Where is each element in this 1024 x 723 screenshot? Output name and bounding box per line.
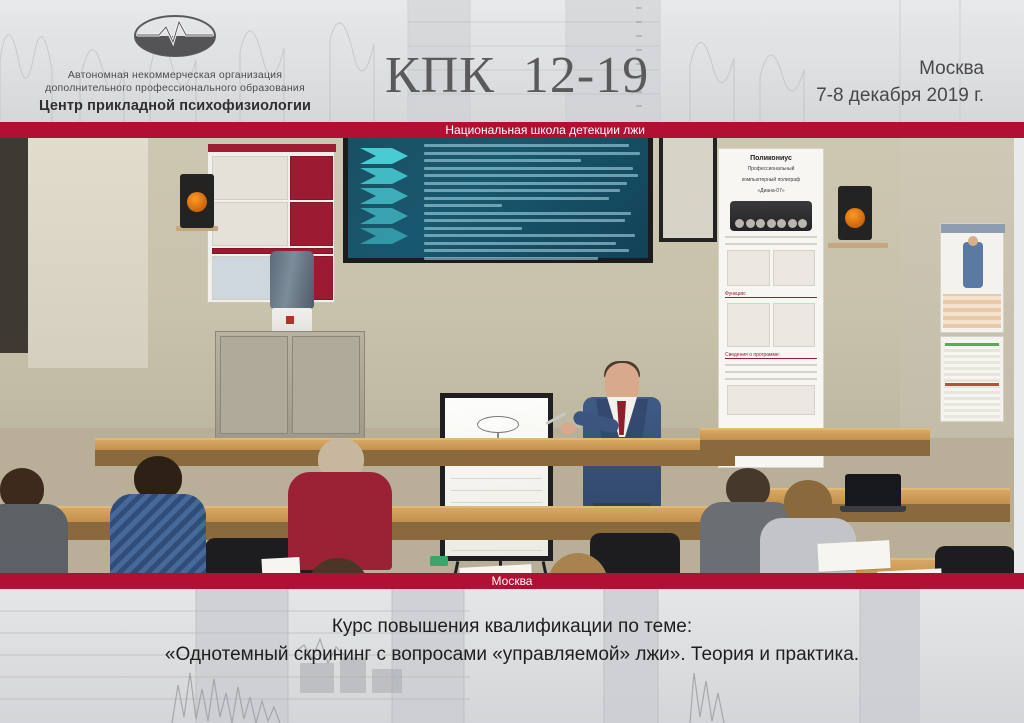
- poster-line-2: компьютерный полиграф: [719, 173, 823, 184]
- desk-row-3-right: [700, 428, 930, 440]
- poster-header-bar: [208, 144, 336, 152]
- slide-chevron-graphic: [358, 146, 414, 254]
- event-dates: 7-8 декабря 2019 г.: [816, 82, 984, 109]
- slide-bullet-lines: [424, 144, 642, 242]
- phone-device: [430, 556, 448, 566]
- paper-sheet: [261, 557, 300, 573]
- presenter-hand: [561, 423, 575, 434]
- poster-figure-row: [727, 250, 815, 286]
- poster-photo-cell: [212, 202, 288, 246]
- polygraph-device-image: [730, 201, 812, 231]
- attendee: [288, 438, 392, 568]
- org-line-1: Автономная некоммерческая организация: [0, 69, 350, 82]
- bottom-banner-text: Москва: [0, 573, 1024, 589]
- course-code-title: КПК 12-19: [385, 48, 649, 104]
- projector-screen: [343, 138, 653, 263]
- top-banner-text: Национальная школа детекции лжи: [445, 122, 645, 138]
- poster-figure-row: [727, 385, 815, 415]
- traffic-light-left: [180, 174, 214, 228]
- event-city: Москва: [816, 55, 984, 82]
- attendee-front-row: [520, 553, 638, 573]
- oval-pulse-wave-logo-icon: [133, 14, 217, 58]
- classroom-photo: Поликониус Профессиональный компьютерный…: [0, 138, 1014, 573]
- bottom-red-banner: Москва: [0, 573, 1024, 589]
- top-red-banner: Национальная школа детекции лжи: [0, 122, 1024, 138]
- org-line-2: дополнительного профессионального образо…: [0, 82, 350, 95]
- poster-brand: Поликониус: [719, 149, 823, 162]
- laptop-base: [840, 506, 906, 512]
- poster-section-2: Сведения о программе:: [725, 352, 817, 359]
- wall-pale-panel: [28, 138, 148, 368]
- header: Автономная некоммерческая организация до…: [0, 0, 1024, 122]
- paper-sheet: [459, 564, 532, 573]
- poster-line-1: Профессиональный: [719, 162, 823, 173]
- footer-course-title: Курс повышения квалификации по теме: «Од…: [0, 613, 1024, 669]
- poster-photo-cell: [212, 156, 288, 200]
- org-name: Центр прикладной психофизиологии: [0, 98, 350, 114]
- footer-line-2: «Однотемный скрининг с вопросами «управл…: [0, 641, 1024, 669]
- water-cooler-bottle: [270, 251, 314, 309]
- chair: [935, 546, 1014, 573]
- poster-line-3: «Диана-07»: [719, 184, 823, 195]
- paper-sheet: [817, 540, 890, 572]
- attendee: [110, 456, 206, 573]
- poster-figure-row: [727, 303, 815, 347]
- wall-poster-person: [940, 223, 1004, 333]
- flipchart-leg: [448, 561, 460, 573]
- footer: ональна Курс повышения квалификации по т…: [0, 589, 1024, 723]
- laptop: [845, 474, 901, 508]
- event-location-date: Москва 7-8 декабря 2019 г.: [816, 55, 984, 109]
- poster-red-cell: [290, 156, 333, 200]
- attendee: [0, 468, 68, 573]
- traffic-light-right: [838, 186, 872, 240]
- flipchart-node-top: [477, 416, 519, 433]
- wall-dark-panel-left: [0, 138, 28, 353]
- organization-logo-block: Автономная некоммерческая организация до…: [0, 14, 350, 114]
- shelf-right: [828, 243, 888, 248]
- cabinet: [215, 331, 365, 439]
- poster-section-1: Функции:: [725, 291, 817, 298]
- whiteboard-right: [659, 138, 717, 242]
- footer-line-1: Курс повышения квалификации по теме:: [0, 613, 1024, 641]
- desk-row-3: [95, 438, 735, 450]
- photo-right-margin: [1014, 138, 1024, 573]
- conference-poster: Автономная некоммерческая организация до…: [0, 0, 1024, 723]
- polykonius-poster: Поликониус Профессиональный компьютерный…: [718, 148, 824, 468]
- wall-poster-table: [940, 336, 1004, 422]
- poster-red-cell: [290, 202, 333, 246]
